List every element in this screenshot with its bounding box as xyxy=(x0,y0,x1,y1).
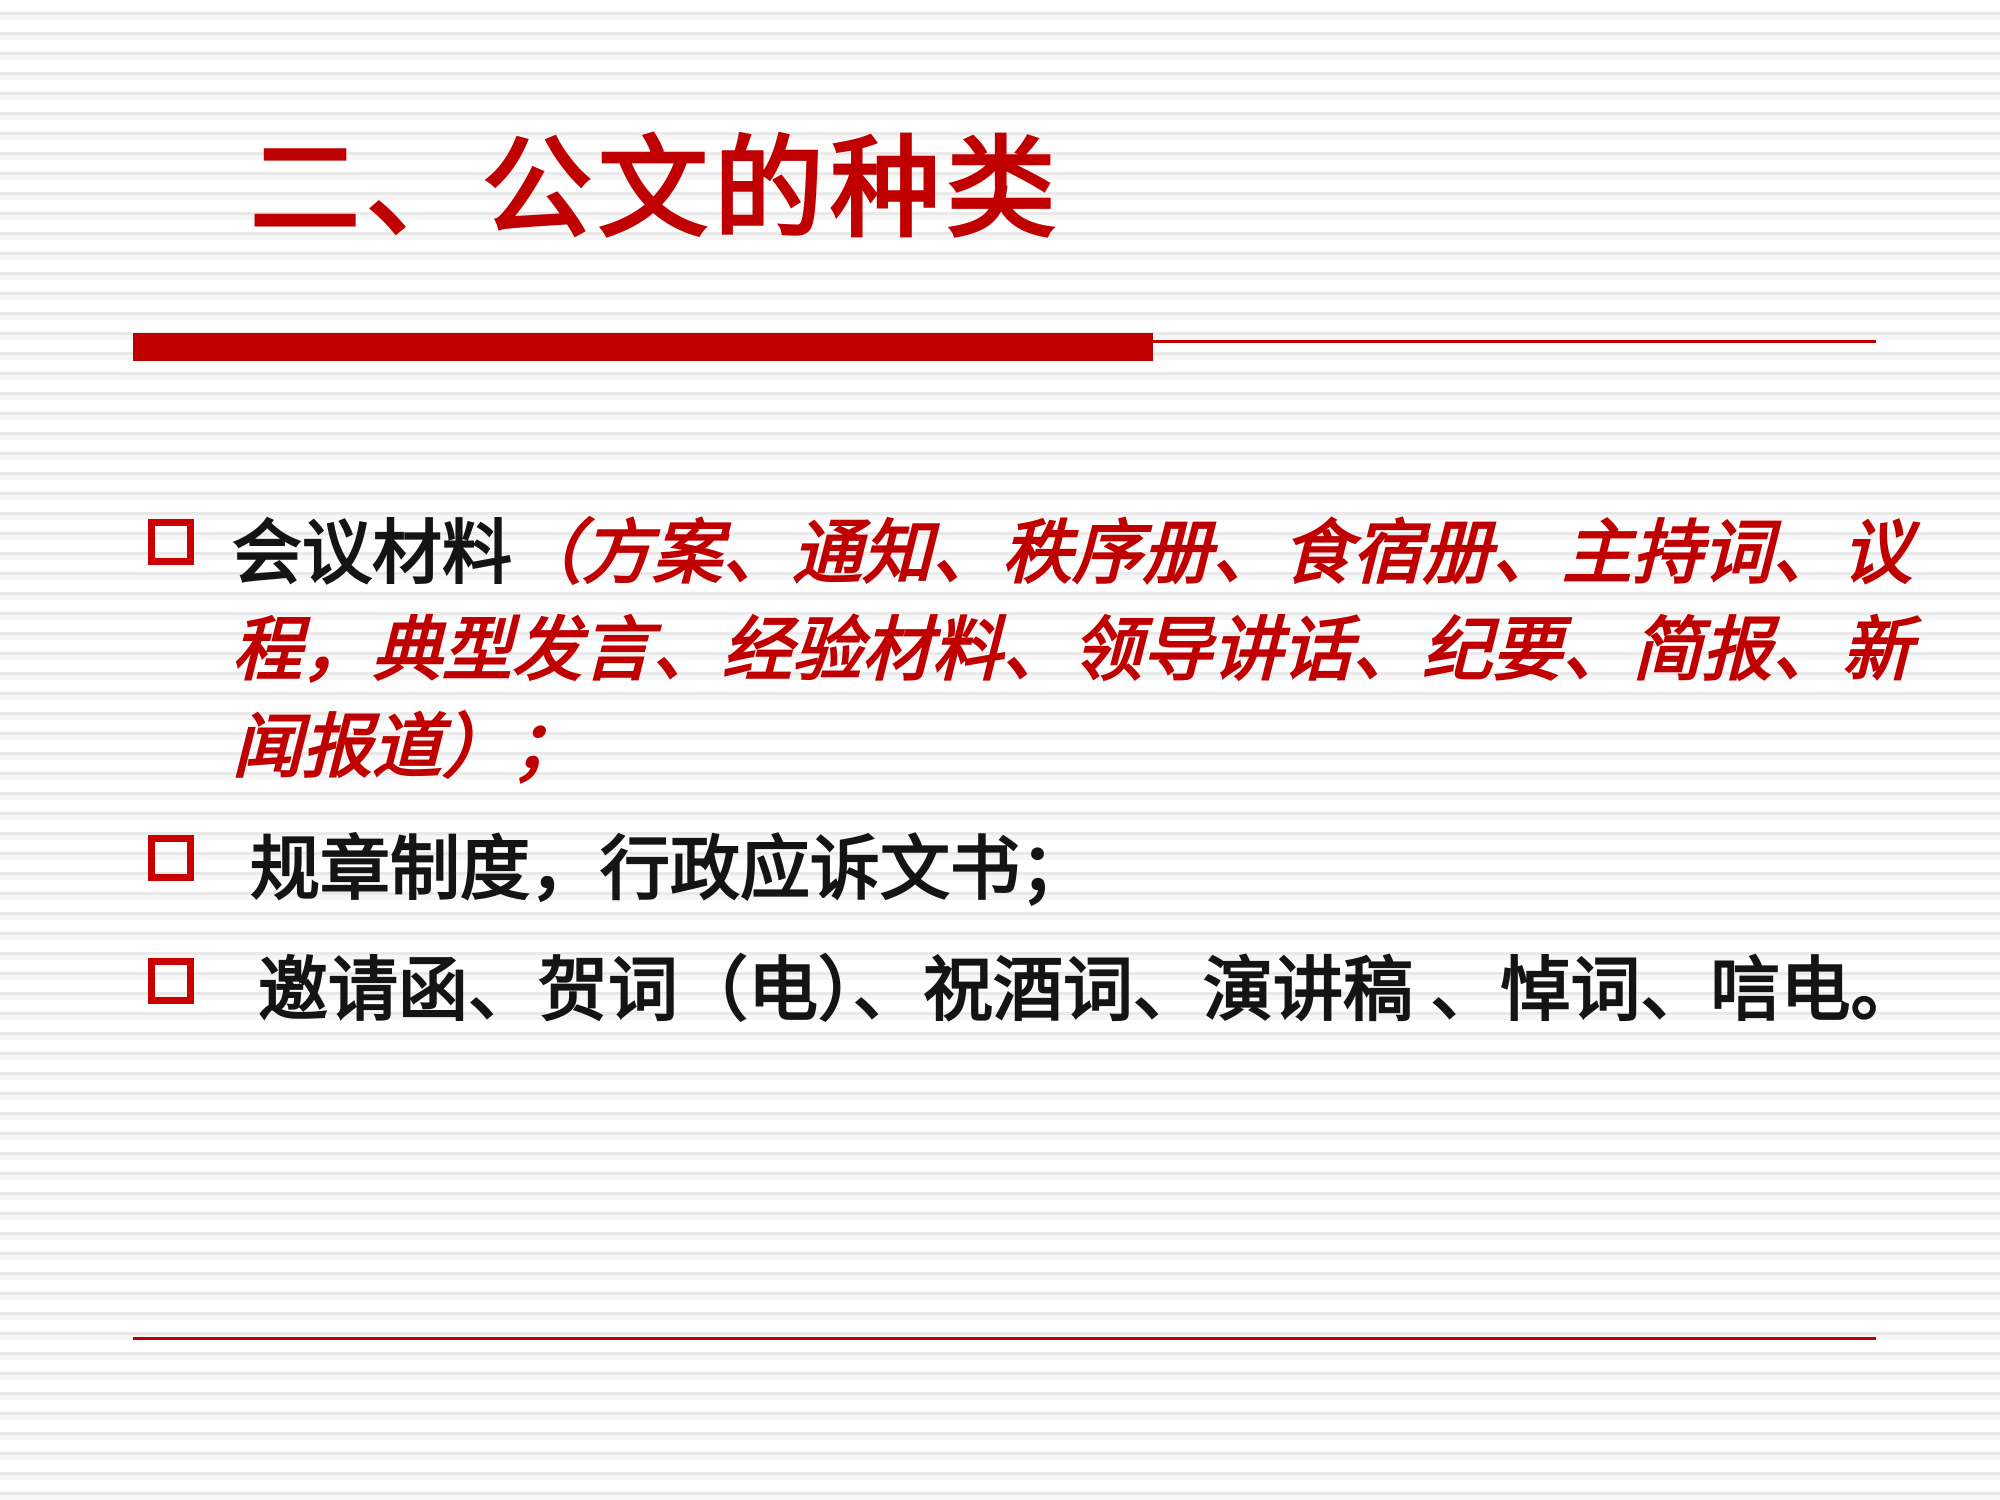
list-item-text: 会议材料（方案、通知、秩序册、食宿册、主持词、议程，典型发言、经验材料、领导讲话… xyxy=(140,505,2000,797)
page-title: 二、公文的种类 xyxy=(250,128,1062,251)
bullet-list: 会议材料（方案、通知、秩序册、食宿册、主持词、议程，典型发言、经验材料、领导讲话… xyxy=(0,505,2000,1039)
list-item-lead-text: 会议材料 xyxy=(232,516,512,593)
square-bullet-icon xyxy=(148,835,194,881)
slide-canvas: 二、公文的种类 会议材料（方案、通知、秩序册、食宿册、主持词、议程，典型发言、经… xyxy=(0,0,2000,1500)
list-item-lead-text: 邀请函、贺词（电）、祝酒词、演讲稿 、悼词、唁电。 xyxy=(258,953,1921,1030)
list-item: 会议材料（方案、通知、秩序册、食宿册、主持词、议程，典型发言、经验材料、领导讲话… xyxy=(0,505,2000,797)
title-underline-thick xyxy=(133,333,1153,361)
list-item: 邀请函、贺词（电）、祝酒词、演讲稿 、悼词、唁电。 xyxy=(0,944,2000,1039)
square-bullet-icon xyxy=(148,519,194,565)
square-bullet-icon xyxy=(148,958,194,1004)
list-item: 规章制度，行政应诉文书； xyxy=(0,823,2000,918)
list-item-text: 邀请函、贺词（电）、祝酒词、演讲稿 、悼词、唁电。 xyxy=(140,944,2000,1039)
list-item-text: 规章制度，行政应诉文书； xyxy=(140,823,2000,918)
list-item-lead-text: 规章制度，行政应诉文书； xyxy=(250,832,1090,909)
footer-divider xyxy=(133,1337,1876,1340)
